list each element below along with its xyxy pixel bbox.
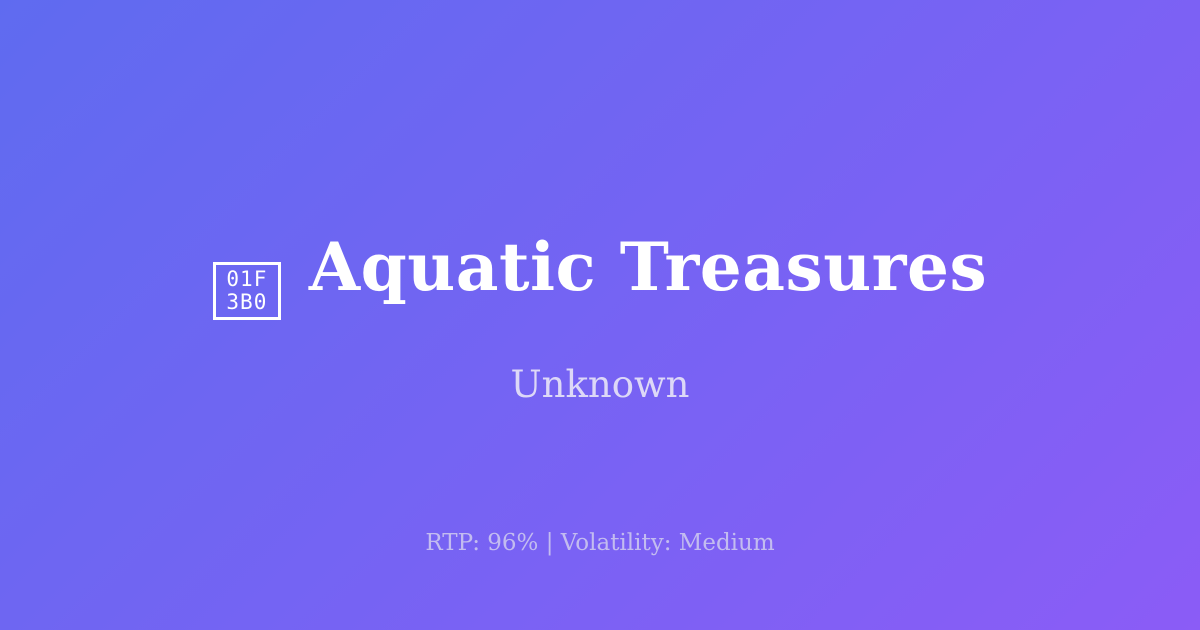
tofu-codepoint-top: 01F	[226, 268, 267, 291]
title-row: 01F 3B0 Aquatic Treasures	[0, 232, 1200, 324]
page-title: Aquatic Treasures	[309, 232, 987, 302]
game-stats: RTP: 96% | Volatility: Medium	[0, 528, 1200, 558]
provider-name: Unknown	[0, 362, 1200, 408]
tofu-codepoint-bottom: 3B0	[226, 291, 267, 314]
slot-machine-icon: 01F 3B0	[213, 262, 281, 320]
game-preview-card: 01F 3B0 Aquatic Treasures Unknown RTP: 9…	[0, 0, 1200, 630]
